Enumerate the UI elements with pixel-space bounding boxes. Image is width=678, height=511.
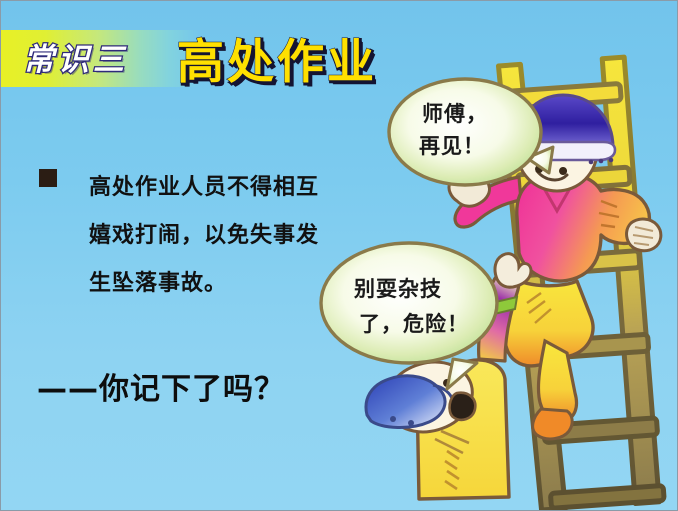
illustration: 师傅， 再见！ 别耍杂技 了，危险！	[301, 41, 678, 511]
banner-label: 常识三	[23, 34, 128, 79]
tagline-text: ——你记下了吗？	[37, 364, 285, 408]
bullet-square-icon	[39, 169, 57, 187]
bullet-text: 高处作业人员不得相互嬉戏打闹，以免失事发生坠落事故。	[39, 164, 339, 308]
slide-canvas: 常识三 高处作业 高处作业人员不得相互嬉戏打闹，以免失事发生坠落事故。 ——你记…	[0, 0, 678, 511]
bullet-block: 高处作业人员不得相互嬉戏打闹，以免失事发生坠落事故。	[39, 164, 339, 308]
illustration-svg	[301, 41, 678, 511]
